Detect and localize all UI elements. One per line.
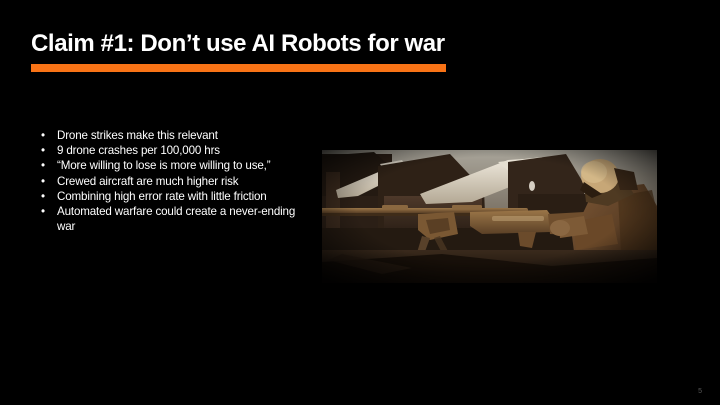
title-underline-rule [31, 64, 446, 72]
list-item-label: 9 drone crashes per 100,000 hrs [57, 144, 220, 157]
slide-photo [322, 150, 657, 283]
title-block: Claim #1: Don’t use AI Robots for war [31, 30, 591, 58]
list-item: • Crewed aircraft are much higher risk [38, 174, 310, 189]
bullet-marker-icon: • [41, 143, 45, 158]
list-item-label: Drone strikes make this relevant [57, 129, 218, 142]
page-title: Claim #1: Don’t use AI Robots for war [31, 30, 591, 58]
photo-illustration [322, 150, 657, 283]
list-item: • 9 drone crashes per 100,000 hrs [38, 143, 310, 158]
list-item: • Drone strikes make this relevant [38, 128, 310, 143]
list-item: • “More willing to lose is more willing … [38, 158, 310, 173]
list-item-label: Combining high error rate with little fr… [57, 190, 267, 203]
slide-number: 5 [698, 387, 702, 396]
bullet-marker-icon: • [41, 174, 45, 189]
bullet-marker-icon: • [41, 204, 45, 219]
bullet-list: • Drone strikes make this relevant • 9 d… [38, 128, 310, 234]
bullet-marker-icon: • [41, 158, 45, 173]
bullet-marker-icon: • [41, 189, 45, 204]
list-item-label: Crewed aircraft are much higher risk [57, 175, 238, 188]
slide: Claim #1: Don’t use AI Robots for war • … [0, 0, 720, 405]
list-item-label: Automated warfare could create a never-e… [57, 205, 295, 233]
list-item: • Combining high error rate with little … [38, 189, 310, 204]
list-item-label: “More willing to lose is more willing to… [57, 159, 270, 172]
bullet-marker-icon: • [41, 128, 45, 143]
list-item: • Automated warfare could create a never… [38, 204, 310, 234]
